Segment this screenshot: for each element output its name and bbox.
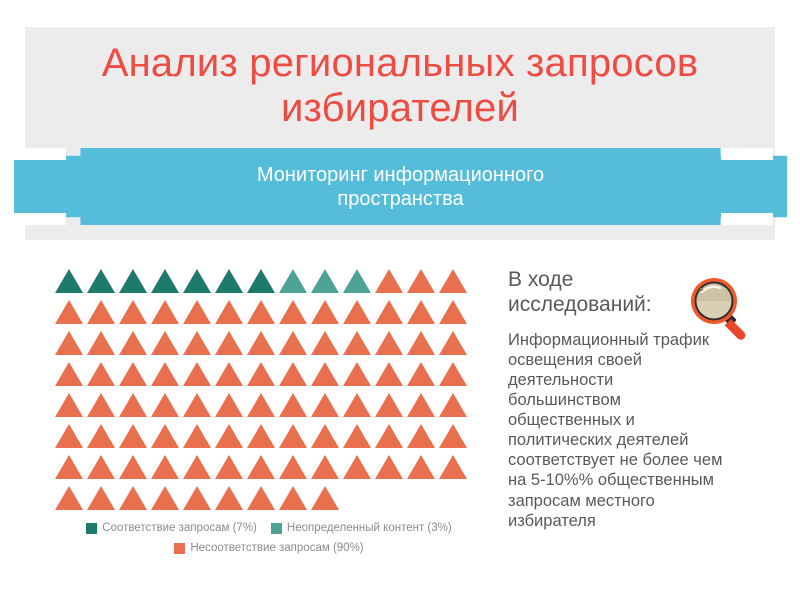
pictogram-triangle <box>86 297 118 327</box>
pictogram-triangle <box>150 452 182 482</box>
pictogram-triangle <box>374 390 406 420</box>
pictogram-triangle <box>342 359 374 389</box>
pictogram-triangle <box>54 359 86 389</box>
pictogram-triangle <box>246 483 278 513</box>
pictogram-triangle <box>182 452 214 482</box>
band-notch-bottom-left <box>14 213 66 225</box>
pictogram-triangle <box>86 359 118 389</box>
pictogram-triangle <box>214 390 246 420</box>
pictogram-triangle <box>54 452 86 482</box>
pictogram-triangle <box>118 359 150 389</box>
pictogram-triangle <box>310 452 342 482</box>
pictogram-triangle <box>278 421 310 451</box>
pictogram-triangle <box>406 359 438 389</box>
pictogram-triangle <box>54 297 86 327</box>
pictogram-triangle <box>342 390 374 420</box>
pictogram-triangle <box>150 483 182 513</box>
pictogram-triangle <box>246 359 278 389</box>
pictogram-triangle <box>214 266 246 296</box>
pictogram-triangle <box>310 421 342 451</box>
pictogram-triangle <box>150 328 182 358</box>
pictogram-triangle <box>118 390 150 420</box>
pictogram-triangle <box>246 421 278 451</box>
pictogram-triangle <box>182 266 214 296</box>
pictogram-triangle <box>374 328 406 358</box>
pictogram-triangle <box>150 266 182 296</box>
pictogram-triangle <box>374 359 406 389</box>
pictogram-triangle <box>118 483 150 513</box>
pictogram-row <box>54 483 474 514</box>
pictogram-triangle <box>278 359 310 389</box>
pictogram-triangle <box>278 328 310 358</box>
pictogram-triangle <box>278 390 310 420</box>
pictogram-triangle <box>310 483 342 513</box>
pictogram-triangle <box>150 359 182 389</box>
pictogram-triangle <box>214 483 246 513</box>
pictogram-triangle <box>54 390 86 420</box>
pictogram-triangle <box>406 328 438 358</box>
pictogram-triangle <box>182 390 214 420</box>
pictogram-triangle <box>246 297 278 327</box>
legend-item-undetermined: Неопределенный контент (3%) <box>271 518 452 538</box>
pictogram-triangle <box>310 390 342 420</box>
pictogram-triangle <box>374 297 406 327</box>
page-title: Анализ региональных запросов избирателей <box>50 41 750 131</box>
pictogram-row <box>54 297 474 328</box>
pictogram-triangle <box>438 452 470 482</box>
page-subtitle: Мониторинг информационного пространства <box>91 163 711 211</box>
pictogram-chart <box>54 266 474 516</box>
pictogram-triangle <box>342 421 374 451</box>
magnifying-glass-icon <box>684 272 756 342</box>
pictogram-triangle <box>310 266 342 296</box>
pictogram-triangle <box>438 359 470 389</box>
pictogram-triangle <box>246 390 278 420</box>
pictogram-triangle <box>342 266 374 296</box>
pictogram-triangle <box>278 266 310 296</box>
pictogram-triangle <box>406 421 438 451</box>
pictogram-triangle <box>214 328 246 358</box>
pictogram-triangle <box>246 266 278 296</box>
pictogram-triangle <box>406 297 438 327</box>
pictogram-triangle <box>118 452 150 482</box>
legend-swatch-nonmatching <box>174 543 185 554</box>
legend-item-matching: Соответствие запросам (7%) <box>86 518 257 538</box>
pictogram-triangle <box>214 452 246 482</box>
pictogram-triangle <box>438 297 470 327</box>
pictogram-triangle <box>86 452 118 482</box>
pictogram-triangle <box>54 328 86 358</box>
pictogram-triangle <box>150 421 182 451</box>
pictogram-triangle <box>438 328 470 358</box>
pictogram-triangle <box>342 297 374 327</box>
pictogram-row <box>54 359 474 390</box>
findings-heading: В ходе исследований: <box>508 268 683 318</box>
legend-row-top: Соответствие запросам (7%) Неопределенны… <box>54 518 484 538</box>
pictogram-row <box>54 390 474 421</box>
pictogram-triangle <box>374 421 406 451</box>
pictogram-triangle <box>310 328 342 358</box>
pictogram-triangle <box>118 266 150 296</box>
pictogram-triangle <box>374 266 406 296</box>
pictogram-triangle <box>374 452 406 482</box>
subtitle-band: Мониторинг информационного пространства <box>14 148 787 225</box>
pictogram-triangle <box>310 297 342 327</box>
pictogram-triangle <box>182 297 214 327</box>
pictogram-row <box>54 452 474 483</box>
band-notch-top-right <box>721 148 773 160</box>
pictogram-triangle <box>214 421 246 451</box>
pictogram-triangle <box>86 390 118 420</box>
pictogram-triangle <box>310 359 342 389</box>
pictogram-triangle <box>118 328 150 358</box>
pictogram-row <box>54 421 474 452</box>
legend-label-undetermined: Неопределенный контент (3%) <box>287 518 452 538</box>
legend-swatch-matching <box>86 523 97 534</box>
legend-item-nonmatching: Несоответствие запросам (90%) <box>174 538 363 558</box>
pictogram-triangle <box>406 452 438 482</box>
pictogram-triangle <box>182 483 214 513</box>
pictogram-row <box>54 328 474 359</box>
pictogram-triangle <box>246 328 278 358</box>
pictogram-triangle <box>246 452 278 482</box>
pictogram-row <box>54 266 474 297</box>
pictogram-triangle <box>438 421 470 451</box>
pictogram-triangle <box>118 297 150 327</box>
slide-header: Анализ региональных запросов избирателей… <box>0 0 800 243</box>
pictogram-triangle <box>150 297 182 327</box>
band-notch-bottom-right <box>721 213 773 225</box>
pictogram-triangle <box>214 297 246 327</box>
pictogram-triangle <box>438 390 470 420</box>
pictogram-triangle <box>86 483 118 513</box>
legend-label-matching: Соответствие запросам (7%) <box>102 518 257 538</box>
pictogram-triangle <box>438 266 470 296</box>
pictogram-triangle <box>406 266 438 296</box>
pictogram-triangle <box>182 421 214 451</box>
pictogram-triangle <box>54 483 86 513</box>
pictogram-triangle <box>342 452 374 482</box>
pictogram-triangle <box>182 359 214 389</box>
pictogram-triangle <box>278 483 310 513</box>
pictogram-triangle <box>406 390 438 420</box>
pictogram-triangle <box>214 359 246 389</box>
pictogram-triangle <box>86 266 118 296</box>
pictogram-triangle <box>86 328 118 358</box>
findings-body: Информационный трафик освещения своей де… <box>508 330 723 531</box>
pictogram-triangle <box>182 328 214 358</box>
pictogram-triangle <box>278 452 310 482</box>
band-notch-top-left <box>14 148 66 160</box>
pictogram-triangle <box>278 297 310 327</box>
legend-label-nonmatching: Несоответствие запросам (90%) <box>190 538 363 558</box>
pictogram-triangle <box>54 266 86 296</box>
pictogram-triangle <box>86 421 118 451</box>
legend-swatch-undetermined <box>271 523 282 534</box>
pictogram-triangle <box>54 421 86 451</box>
chart-legend: Соответствие запросам (7%) Неопределенны… <box>54 518 484 558</box>
legend-row-bottom: Несоответствие запросам (90%) <box>54 538 484 558</box>
pictogram-triangle <box>118 421 150 451</box>
title-plate: Анализ региональных запросов избирателей <box>25 27 775 145</box>
pictogram-triangle <box>342 328 374 358</box>
pictogram-triangle <box>150 390 182 420</box>
